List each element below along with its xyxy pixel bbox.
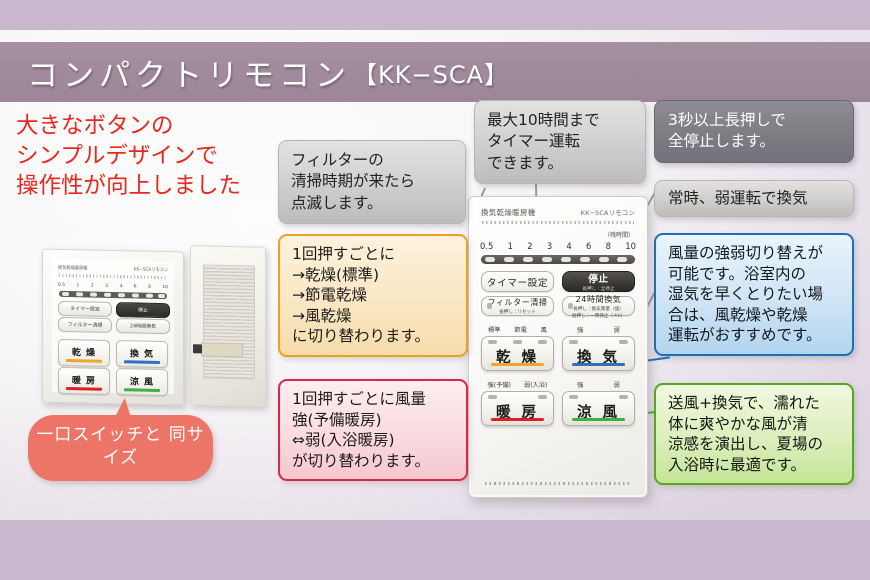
- photo-led-bar: [59, 291, 167, 299]
- photo-stop-button: 停止: [116, 302, 170, 318]
- remote-led-track: [481, 255, 635, 264]
- photo-remote-header: 換気乾燥暖房機 KK−SCAリモコン: [58, 264, 168, 273]
- remote-illustration: 換気乾燥暖房機 KK−SCAリモコン （残時間） 0.5 1 2 3 4 6 8…: [468, 196, 648, 498]
- timer-tick-6: 8: [606, 241, 611, 251]
- timer-tick-4: 4: [566, 241, 571, 251]
- photo-timer-set-button: タイマー設定: [58, 301, 112, 317]
- remote-stop-button[interactable]: 停止 長押し：全停止: [562, 271, 635, 292]
- remote-cool-button[interactable]: 涼 風: [562, 391, 635, 426]
- remote-timer-scale: 0.5 1 2 3 4 6 8 10: [480, 241, 636, 251]
- photo-dry-button: 乾 燥: [58, 339, 110, 367]
- dry-color-bar: [491, 363, 544, 366]
- cool-color-bar: [572, 418, 625, 421]
- vent-color-bar: [572, 363, 625, 366]
- callout-vent-always: 常時、弱運転で換気: [654, 180, 854, 217]
- remote-model-label: KK−SCAリモコン: [581, 208, 635, 217]
- remote-mode-captions-1: 標準 節電 風 強 弱: [481, 325, 635, 334]
- callout-filter: フィルターの 清掃時期が来たら 点滅します。: [278, 140, 466, 224]
- heat-mode-captions: 強(予備) 弱(入浴): [481, 380, 554, 389]
- remote-top-vent-dots: [482, 221, 634, 224]
- photo-vent-button: 換 気: [116, 340, 168, 368]
- size-comparison-callout: 一口スイッチと 同サイズ: [28, 415, 213, 481]
- callout-cool-breeze: 送風+換気で、濡れた 体に爽やかな風が清 涼感を演出し、夏場の 入浴時に最適です…: [654, 383, 854, 485]
- remote-bottom-vent-dots: [485, 482, 631, 485]
- photo-louver-tab: [201, 342, 243, 357]
- remote-heat-button[interactable]: 暖 房: [481, 391, 554, 426]
- remote-filter-clean-button[interactable]: フィルター清掃 長押し：リセット: [481, 296, 554, 316]
- timer-tick-7: 10: [625, 241, 636, 251]
- cool-leds: [569, 395, 628, 399]
- callout-timer: 最大10時間まで タイマー運転 できます。: [474, 100, 646, 184]
- heat-leds: [488, 395, 547, 399]
- vent-leds: [569, 340, 628, 344]
- remote-button-row-1: タイマー設定 停止 長押し：全停止: [481, 271, 635, 292]
- callout-vent-power: 風量の強弱切り替えが 可能です。浴室内の 湿気を早くとりたい場 合は、風乾燥や乾…: [654, 233, 854, 356]
- remote-mode-row-2: 暖 房 涼 風: [481, 391, 635, 426]
- remote-mode-captions-2: 強(予備) 弱(入浴) 強 弱: [481, 380, 635, 389]
- timer-tick-2: 2: [527, 241, 532, 251]
- model-number: 【KK−SCA】: [353, 55, 509, 90]
- timer-tick-0: 0.5: [480, 241, 493, 251]
- remote-dry-button[interactable]: 乾 燥: [481, 336, 554, 371]
- photo-timer-scale: 0.5 1 2 3 4 6 8 10: [58, 283, 168, 291]
- photo-cool-button: 涼 風: [116, 368, 168, 396]
- cool-mode-captions: 強 弱: [562, 380, 635, 389]
- infographic-page: コンパクトリモコン 【KK−SCA】 大きなボタンの シンプルデザインで 操作性…: [0, 0, 870, 580]
- remote-header: 換気乾燥暖房機 KK−SCAリモコン: [481, 207, 635, 218]
- remote-mode-row-1: 乾 燥 換 気: [481, 336, 635, 371]
- page-title: コンパクトリモコン: [27, 50, 351, 95]
- remote-device-name: 換気乾燥暖房機: [481, 207, 536, 218]
- callout-dry-modes: 1回押すごとに →乾燥(標準) →節電乾燥 →風乾燥 に切り替わります。: [278, 234, 468, 357]
- photo-filter-button: フィルター清掃: [58, 317, 112, 333]
- callout-heat-modes: 1回押すごとに風量 強(予備暖房) ⇔弱(入浴暖房) が切り替わります。: [278, 379, 468, 481]
- photo-device-name: 換気乾燥暖房機: [58, 264, 87, 272]
- photo-heat-button: 暖 房: [58, 367, 110, 395]
- remote-timer-remark: （残時間）: [604, 230, 634, 239]
- photo-louver-knob: [193, 344, 202, 353]
- dry-mode-captions: 標準 節電 風: [481, 325, 554, 334]
- photo-model-label: KK−SCAリモコン: [134, 265, 168, 273]
- photo-switch-plate: [190, 245, 266, 407]
- timer-tick-1: 1: [508, 241, 513, 251]
- callout-stop: 3秒以上長押しで 全停止します。: [654, 100, 854, 163]
- remote-button-row-2: フィルター清掃 長押し：リセット 24時間換気 長押し：換気風量（強） 短押し：…: [481, 296, 635, 316]
- headline-text: 大きなボタンの シンプルデザインで 操作性が向上しました: [16, 112, 296, 202]
- remote-vent-button[interactable]: 換 気: [562, 336, 635, 371]
- remote-24h-vent-button[interactable]: 24時間換気 長押し：換気風量（強） 短押し：一時停止（４h）: [562, 296, 635, 316]
- photo-remote-face: 換気乾燥暖房機 KK−SCAリモコン 0.5 1 2 3 4 6 8 10: [52, 259, 174, 395]
- vent-mode-captions: 強 弱: [562, 325, 635, 334]
- heat-color-bar: [491, 418, 544, 421]
- remote-timer-set-button[interactable]: タイマー設定: [481, 271, 554, 292]
- dry-leds: [488, 340, 547, 344]
- photo-remote-body: 換気乾燥暖房機 KK−SCAリモコン 0.5 1 2 3 4 6 8 10: [42, 249, 184, 406]
- product-photo: 換気乾燥暖房機 KK−SCAリモコン 0.5 1 2 3 4 6 8 10: [42, 250, 262, 410]
- photo-vent-dots: [59, 274, 167, 279]
- timer-tick-3: 3: [547, 241, 552, 251]
- photo-vent24-button: 24時間換気: [116, 318, 170, 334]
- photo-louver: [203, 264, 255, 379]
- timer-tick-5: 6: [586, 241, 591, 251]
- title-band: コンパクトリモコン 【KK−SCA】: [0, 42, 870, 102]
